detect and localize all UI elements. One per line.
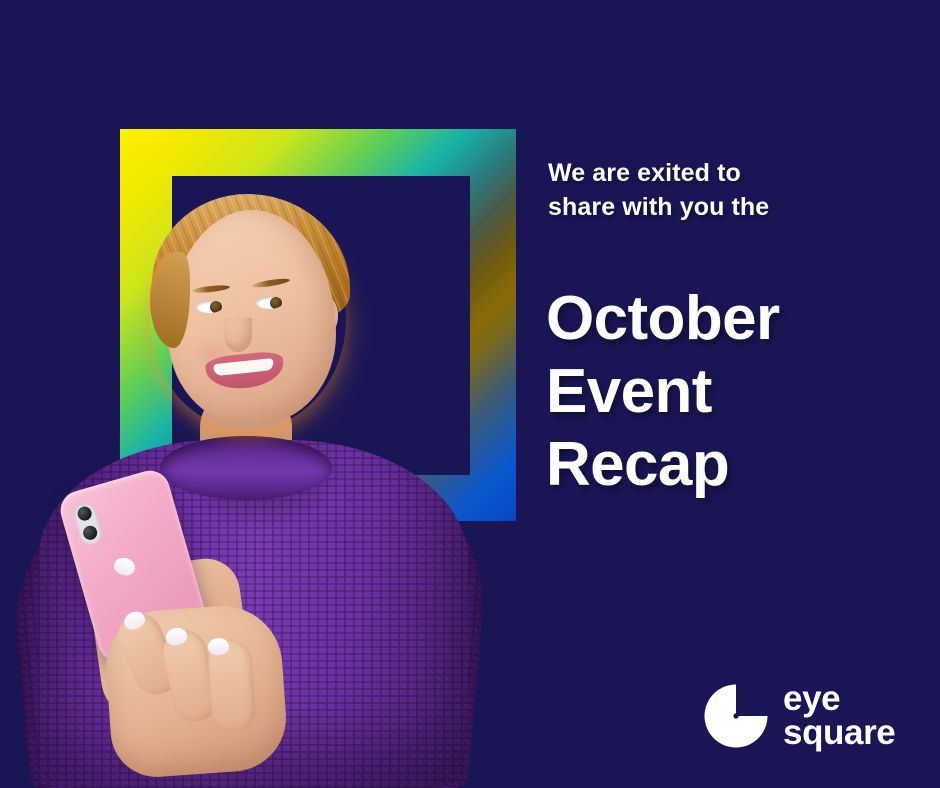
sweater-left-sleeve <box>6 502 218 788</box>
social-post-canvas: We are exited to share with you the Octo… <box>0 0 940 788</box>
fingernail <box>207 637 229 655</box>
fingernail-thumb <box>112 555 137 577</box>
brand-logo: eye square <box>703 682 895 751</box>
gradient-frame-opening <box>172 176 470 475</box>
finger-ring <box>207 639 257 734</box>
finger-index <box>111 607 185 702</box>
logo-wordmark: eye square <box>783 682 895 751</box>
phone-camera-icon <box>71 501 104 547</box>
hand-front <box>102 602 289 780</box>
knit-texture <box>287 483 492 788</box>
subtitle-line-2: share with you the <box>548 193 769 221</box>
knit-texture <box>6 502 218 788</box>
fingernail <box>164 626 188 647</box>
hand-back <box>86 554 255 723</box>
headline-line-2: Event <box>546 355 918 428</box>
logo-line-eye: eye <box>783 682 895 716</box>
sweater-right-sleeve <box>287 483 492 788</box>
logo-line-square: square <box>783 716 895 750</box>
subtitle: We are exited to share with you the <box>548 157 900 224</box>
fingernail <box>121 608 147 632</box>
headline-line-1: October <box>546 282 918 355</box>
subtitle-line-1: We are exited to <box>548 159 741 187</box>
page-title: October Event Recap <box>546 282 918 501</box>
finger-middle <box>159 626 221 725</box>
headline-line-3: Recap <box>546 428 918 501</box>
eye-square-logo-mark <box>703 683 769 749</box>
gradient-frame <box>120 129 516 521</box>
